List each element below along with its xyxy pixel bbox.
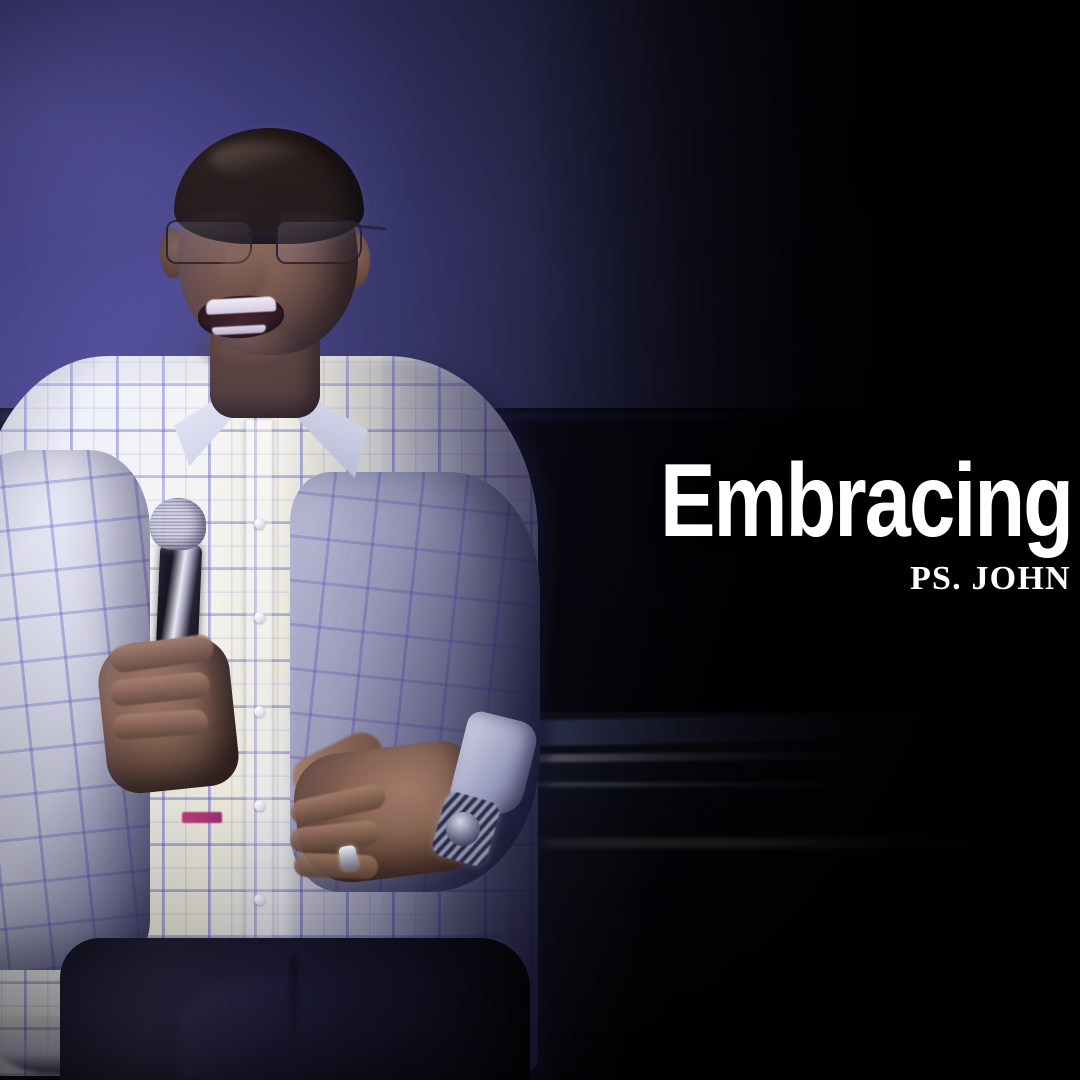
eyeglass-lens-right xyxy=(276,220,362,264)
speaker-figure xyxy=(0,120,640,1080)
finger xyxy=(294,853,379,880)
hair-highlight xyxy=(210,142,306,176)
eyeglasses-icon xyxy=(158,218,376,266)
shirt-brand-tag xyxy=(182,812,222,823)
nose xyxy=(222,248,266,300)
shirt-button xyxy=(254,706,265,717)
microphone-grille xyxy=(150,498,206,550)
shirt-button xyxy=(254,894,265,905)
shirt-button xyxy=(254,518,265,529)
shirt-button xyxy=(254,612,265,623)
trouser-fold xyxy=(178,978,308,1080)
eyeglass-bridge xyxy=(248,232,278,235)
shirt-button xyxy=(254,800,265,811)
sermon-title-card: Embracing O PS. JOHN S xyxy=(0,0,1080,1080)
trouser-crease xyxy=(292,956,296,1080)
